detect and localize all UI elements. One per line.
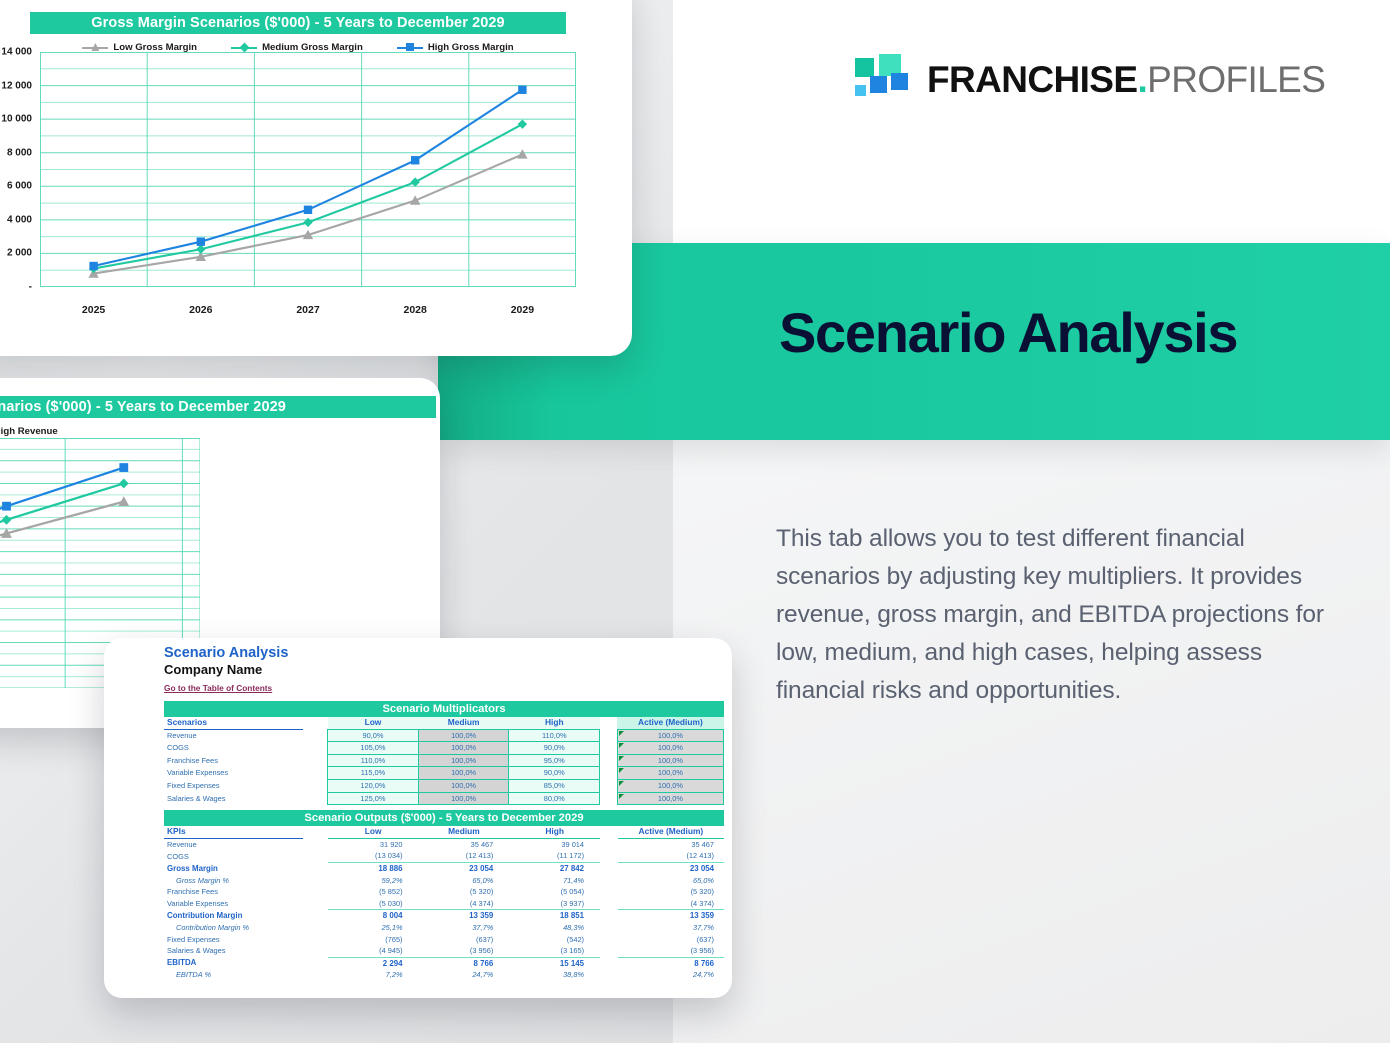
row-label: Fixed Expenses — [164, 779, 303, 792]
col-header-low: Low — [328, 826, 419, 838]
table-row[interactable]: Revenue31 92035 46739 01435 467 — [164, 838, 724, 850]
cell-low[interactable]: 90,0% — [328, 729, 419, 742]
cell-low: (4 945) — [328, 945, 419, 957]
y-axis-tick: - — [29, 282, 32, 293]
col-header-low: Low — [328, 717, 419, 729]
cell-medium[interactable]: 100,0% — [418, 729, 509, 742]
table-row[interactable]: Gross Margin %59,2%65,0%71,4%65,0% — [164, 875, 724, 887]
cell-high: 15 145 — [509, 957, 600, 969]
sheet-title: Scenario Analysis — [164, 644, 724, 662]
row-label: Contribution Margin % — [164, 922, 303, 934]
legend-label: High Revenue — [0, 426, 58, 437]
row-label: Franchise Fees — [164, 886, 303, 898]
line-marker-triangle-icon — [82, 47, 108, 49]
table-row[interactable]: Salaries & Wages125,0%100,0%80,0%100,0% — [164, 792, 724, 805]
cell-medium: (4 374) — [419, 898, 510, 910]
row-label: Variable Expenses — [164, 767, 303, 780]
logo-wordmark: FRANCHISE.PROFILES — [927, 61, 1325, 98]
table-row[interactable]: EBITDA2 2948 76615 1458 766 — [164, 957, 724, 969]
row-label: Salaries & Wages — [164, 792, 303, 805]
cell-medium[interactable]: 100,0% — [418, 792, 509, 805]
row-label: Salaries & Wages — [164, 945, 303, 957]
cell-active: 65,0% — [618, 875, 724, 887]
cell-low: 59,2% — [328, 875, 419, 887]
cell-active[interactable]: 100,0% — [617, 729, 723, 742]
cell-active: (4 374) — [618, 898, 724, 910]
brand-logo: FRANCHISE.PROFILES — [853, 48, 1353, 110]
cell-high: (5 054) — [509, 886, 600, 898]
table-row[interactable]: EBITDA %7,2%24,7%38,8%24,7% — [164, 969, 724, 981]
cell-high[interactable]: 85,0% — [509, 779, 600, 792]
col-header-medium: Medium — [419, 826, 510, 838]
scenario-analysis-sheet-card: Scenario Analysis Company Name Go to the… — [104, 638, 732, 998]
y-axis-tick: 14 000 — [1, 47, 32, 58]
table-row[interactable]: Contribution Margin8 00413 35918 85113 3… — [164, 910, 724, 922]
table-of-contents-link[interactable]: Go to the Table of Contents — [164, 683, 272, 693]
y-axis-tick: 6 000 — [7, 181, 32, 192]
revenue-legend: Low Revenue Medium Revenue High Revenue — [0, 426, 260, 437]
cell-active: (637) — [618, 934, 724, 946]
cell-active: 35 467 — [618, 838, 724, 850]
gross-margin-chart: Gross Margin Scenarios ($'000) - 5 Years… — [0, 0, 632, 356]
y-axis-tick: 10 000 — [1, 114, 32, 125]
outputs-band-title: Scenario Outputs ($'000) - 5 Years to De… — [164, 810, 724, 826]
table-header-row: ScenariosLowMediumHighActive (Medium) — [164, 717, 724, 729]
cell-medium: 13 359 — [419, 910, 510, 922]
table-row[interactable]: Revenue90,0%100,0%110,0%100,0% — [164, 729, 724, 742]
cell-medium: (3 956) — [419, 945, 510, 957]
table-row[interactable]: Fixed Expenses(765)(637)(542)(637) — [164, 934, 724, 946]
cell-medium[interactable]: 100,0% — [418, 742, 509, 755]
cell-high: 18 851 — [509, 910, 600, 922]
page-title: Scenario Analysis — [779, 305, 1237, 361]
cell-low: (5 030) — [328, 898, 419, 910]
page-description: This tab allows you to test different fi… — [776, 520, 1336, 710]
cell-medium: (637) — [419, 934, 510, 946]
table-row[interactable]: COGS(13 034)(12 413)(11 172)(12 413) — [164, 850, 724, 862]
cell-high: 39 014 — [509, 838, 600, 850]
logo-dot: . — [1137, 59, 1147, 100]
row-label: Variable Expenses — [164, 898, 303, 910]
x-axis-tick: 2029 — [511, 304, 534, 316]
y-axis-tick: 8 000 — [7, 147, 32, 158]
cell-low: (13 034) — [328, 850, 419, 862]
col-header-active: Active (Medium) — [618, 826, 724, 838]
col-header-high: High — [509, 717, 600, 729]
cell-low: 18 886 — [328, 862, 419, 874]
cell-low[interactable]: 120,0% — [328, 779, 419, 792]
cell-medium: 37,7% — [419, 922, 510, 934]
row-label: Revenue — [164, 838, 303, 850]
cell-high: (3 165) — [509, 945, 600, 957]
cell-high: (542) — [509, 934, 600, 946]
table-header-row: KPIsLowMediumHighActive (Medium) — [164, 826, 724, 838]
cell-medium[interactable]: 100,0% — [418, 767, 509, 780]
y-axis-tick: 4 000 — [7, 214, 32, 225]
multiplicators-band-title: Scenario Multiplicators — [164, 701, 724, 717]
cell-low[interactable]: 110,0% — [328, 754, 419, 767]
cell-low[interactable]: 105,0% — [328, 742, 419, 755]
cell-high: 48,3% — [509, 922, 600, 934]
cell-low: (765) — [328, 934, 419, 946]
cell-medium[interactable]: 100,0% — [418, 754, 509, 767]
logo-word-primary: FRANCHISE — [927, 59, 1137, 100]
cell-active[interactable]: 100,0% — [617, 754, 723, 767]
row-label: Fixed Expenses — [164, 934, 303, 946]
gross-margin-chart-title: Gross Margin Scenarios ($'000) - 5 Years… — [30, 12, 566, 34]
cell-high[interactable]: 90,0% — [509, 767, 600, 780]
x-axis-tick: 2025 — [82, 304, 105, 316]
y-axis-tick: 12 000 — [1, 80, 32, 91]
cell-low[interactable]: 115,0% — [328, 767, 419, 780]
cell-high[interactable]: 80,0% — [509, 792, 600, 805]
row-label: Franchise Fees — [164, 754, 303, 767]
table-row[interactable]: Variable Expenses115,0%100,0%90,0%100,0% — [164, 767, 724, 780]
cell-active[interactable]: 100,0% — [617, 792, 723, 805]
row-label: Gross Margin % — [164, 875, 303, 887]
scenario-outputs-table: KPIsLowMediumHighActive (Medium)Revenue3… — [164, 826, 724, 981]
col-header-high: High — [509, 826, 600, 838]
row-label: EBITDA % — [164, 969, 303, 981]
row-label: Gross Margin — [164, 862, 303, 874]
table-row[interactable]: COGS105,0%100,0%90,0%100,0% — [164, 742, 724, 755]
cell-active: (5 320) — [618, 886, 724, 898]
logo-squares-icon — [853, 54, 911, 104]
cell-low[interactable]: 125,0% — [328, 792, 419, 805]
cell-medium: (12 413) — [419, 850, 510, 862]
line-marker-diamond-icon — [231, 47, 257, 49]
cell-medium: 8 766 — [419, 957, 510, 969]
cell-active: 24,7% — [618, 969, 724, 981]
table-row[interactable]: Contribution Margin %25,1%37,7%48,3%37,7… — [164, 922, 724, 934]
gross-margin-y-axis: 14 00012 00010 0008 0006 0004 0002 000- — [0, 52, 32, 287]
cell-low: 25,1% — [328, 922, 419, 934]
cell-active[interactable]: 100,0% — [617, 742, 723, 755]
table-row[interactable]: Fixed Expenses120,0%100,0%85,0%100,0% — [164, 779, 724, 792]
row-label: COGS — [164, 850, 303, 862]
row-label: Revenue — [164, 729, 303, 742]
cell-active: (12 413) — [618, 850, 724, 862]
col-header-scenarios: Scenarios — [164, 717, 303, 729]
scenario-multiplicators-table: ScenariosLowMediumHighActive (Medium)Rev… — [164, 717, 724, 805]
cell-high: 71,4% — [509, 875, 600, 887]
col-header-kpis: KPIs — [164, 826, 303, 838]
cell-medium: 65,0% — [419, 875, 510, 887]
col-header-medium: Medium — [418, 717, 509, 729]
cell-medium: 24,7% — [419, 969, 510, 981]
table-row[interactable]: Variable Expenses(5 030)(4 374)(3 937)(4… — [164, 898, 724, 910]
cell-medium: 35 467 — [419, 838, 510, 850]
cell-active: 23 054 — [618, 862, 724, 874]
logo-word-secondary: PROFILES — [1147, 59, 1325, 100]
cell-active[interactable]: 100,0% — [617, 767, 723, 780]
sheet-company: Company Name — [164, 662, 724, 678]
row-label: EBITDA — [164, 957, 303, 969]
cell-low: 31 920 — [328, 838, 419, 850]
gross-margin-x-axis: 20252026202720282029 — [40, 304, 576, 320]
table-row[interactable]: Franchise Fees(5 852)(5 320)(5 054)(5 32… — [164, 886, 724, 898]
cell-medium: 23 054 — [419, 862, 510, 874]
cell-high[interactable]: 95,0% — [509, 754, 600, 767]
gross-margin-plot-area — [40, 52, 576, 287]
cell-high: (11 172) — [509, 850, 600, 862]
cell-medium[interactable]: 100,0% — [418, 779, 509, 792]
legend-item-high-revenue[interactable]: High Revenue — [0, 426, 58, 437]
x-axis-tick: 2028 — [404, 304, 427, 316]
cell-high: (3 937) — [509, 898, 600, 910]
cell-active: 13 359 — [618, 910, 724, 922]
row-label: Contribution Margin — [164, 910, 303, 922]
cell-high[interactable]: 110,0% — [509, 729, 600, 742]
cell-low: 8 004 — [328, 910, 419, 922]
table-row[interactable]: Franchise Fees110,0%100,0%95,0%100,0% — [164, 754, 724, 767]
cell-active: 37,7% — [618, 922, 724, 934]
table-row[interactable]: Salaries & Wages(4 945)(3 956)(3 165)(3 … — [164, 945, 724, 957]
cell-low: 7,2% — [328, 969, 419, 981]
x-axis-tick: 2027 — [296, 304, 319, 316]
cell-high[interactable]: 90,0% — [509, 742, 600, 755]
table-row[interactable]: Gross Margin18 88623 05427 84223 054 — [164, 862, 724, 874]
row-label: COGS — [164, 742, 303, 755]
cell-medium: (5 320) — [419, 886, 510, 898]
cell-low: (5 852) — [328, 886, 419, 898]
background-top-right-white — [673, 0, 1390, 243]
line-marker-square-icon — [397, 47, 423, 49]
cell-active: 8 766 — [618, 957, 724, 969]
gross-margin-chart-card: Gross Margin Scenarios ($'000) - 5 Years… — [0, 0, 632, 356]
cell-low: 2 294 — [328, 957, 419, 969]
sheet-content: Scenario Analysis Company Name Go to the… — [164, 644, 724, 981]
y-axis-tick: 2 000 — [7, 248, 32, 259]
cell-high: 38,8% — [509, 969, 600, 981]
revenue-chart-title: Revenue Scenarios ($'000) - 5 Years to D… — [0, 396, 436, 418]
cell-active: (3 956) — [618, 945, 724, 957]
x-axis-tick: 2026 — [189, 304, 212, 316]
cell-active[interactable]: 100,0% — [617, 779, 723, 792]
col-header-active: Active (Medium) — [617, 717, 723, 729]
cell-high: 27 842 — [509, 862, 600, 874]
